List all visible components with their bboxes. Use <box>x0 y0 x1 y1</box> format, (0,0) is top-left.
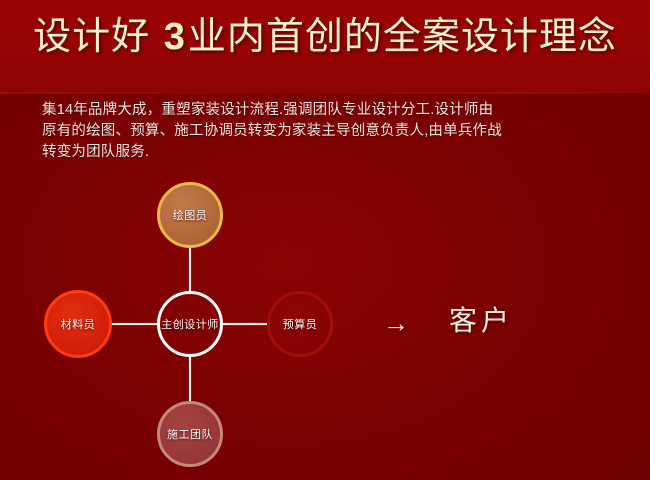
connector-center-to-top <box>189 242 191 294</box>
connector-center-to-right <box>220 323 270 325</box>
node-chief-designer-label: 主创设计师 <box>161 316 219 332</box>
connector-center-to-left <box>107 323 160 325</box>
connector-center-to-bottom <box>189 354 191 404</box>
arrow-right-icon: → <box>383 308 409 338</box>
team-structure-diagram: 绘图员 材料员 主创设计师 预算员 施工团队 → 客户 <box>0 0 650 480</box>
node-draftsman[interactable]: 绘图员 <box>157 182 223 248</box>
outcome-client-label: 客户 <box>449 303 513 339</box>
node-material-clerk-label: 材料员 <box>61 316 96 332</box>
node-draftsman-label: 绘图员 <box>173 207 208 223</box>
node-chief-designer[interactable]: 主创设计师 <box>157 291 223 357</box>
node-construction-team-label: 施工团队 <box>167 426 213 442</box>
node-budget-clerk[interactable]: 预算员 <box>267 291 333 357</box>
node-construction-team[interactable]: 施工团队 <box>157 401 223 467</box>
slide-canvas: 设计好 3业内首创的全案设计理念 集14年品牌大成，重塑家装设计流程.强调团队专… <box>0 0 650 480</box>
node-material-clerk[interactable]: 材料员 <box>44 290 112 358</box>
node-budget-clerk-label: 预算员 <box>283 316 318 332</box>
